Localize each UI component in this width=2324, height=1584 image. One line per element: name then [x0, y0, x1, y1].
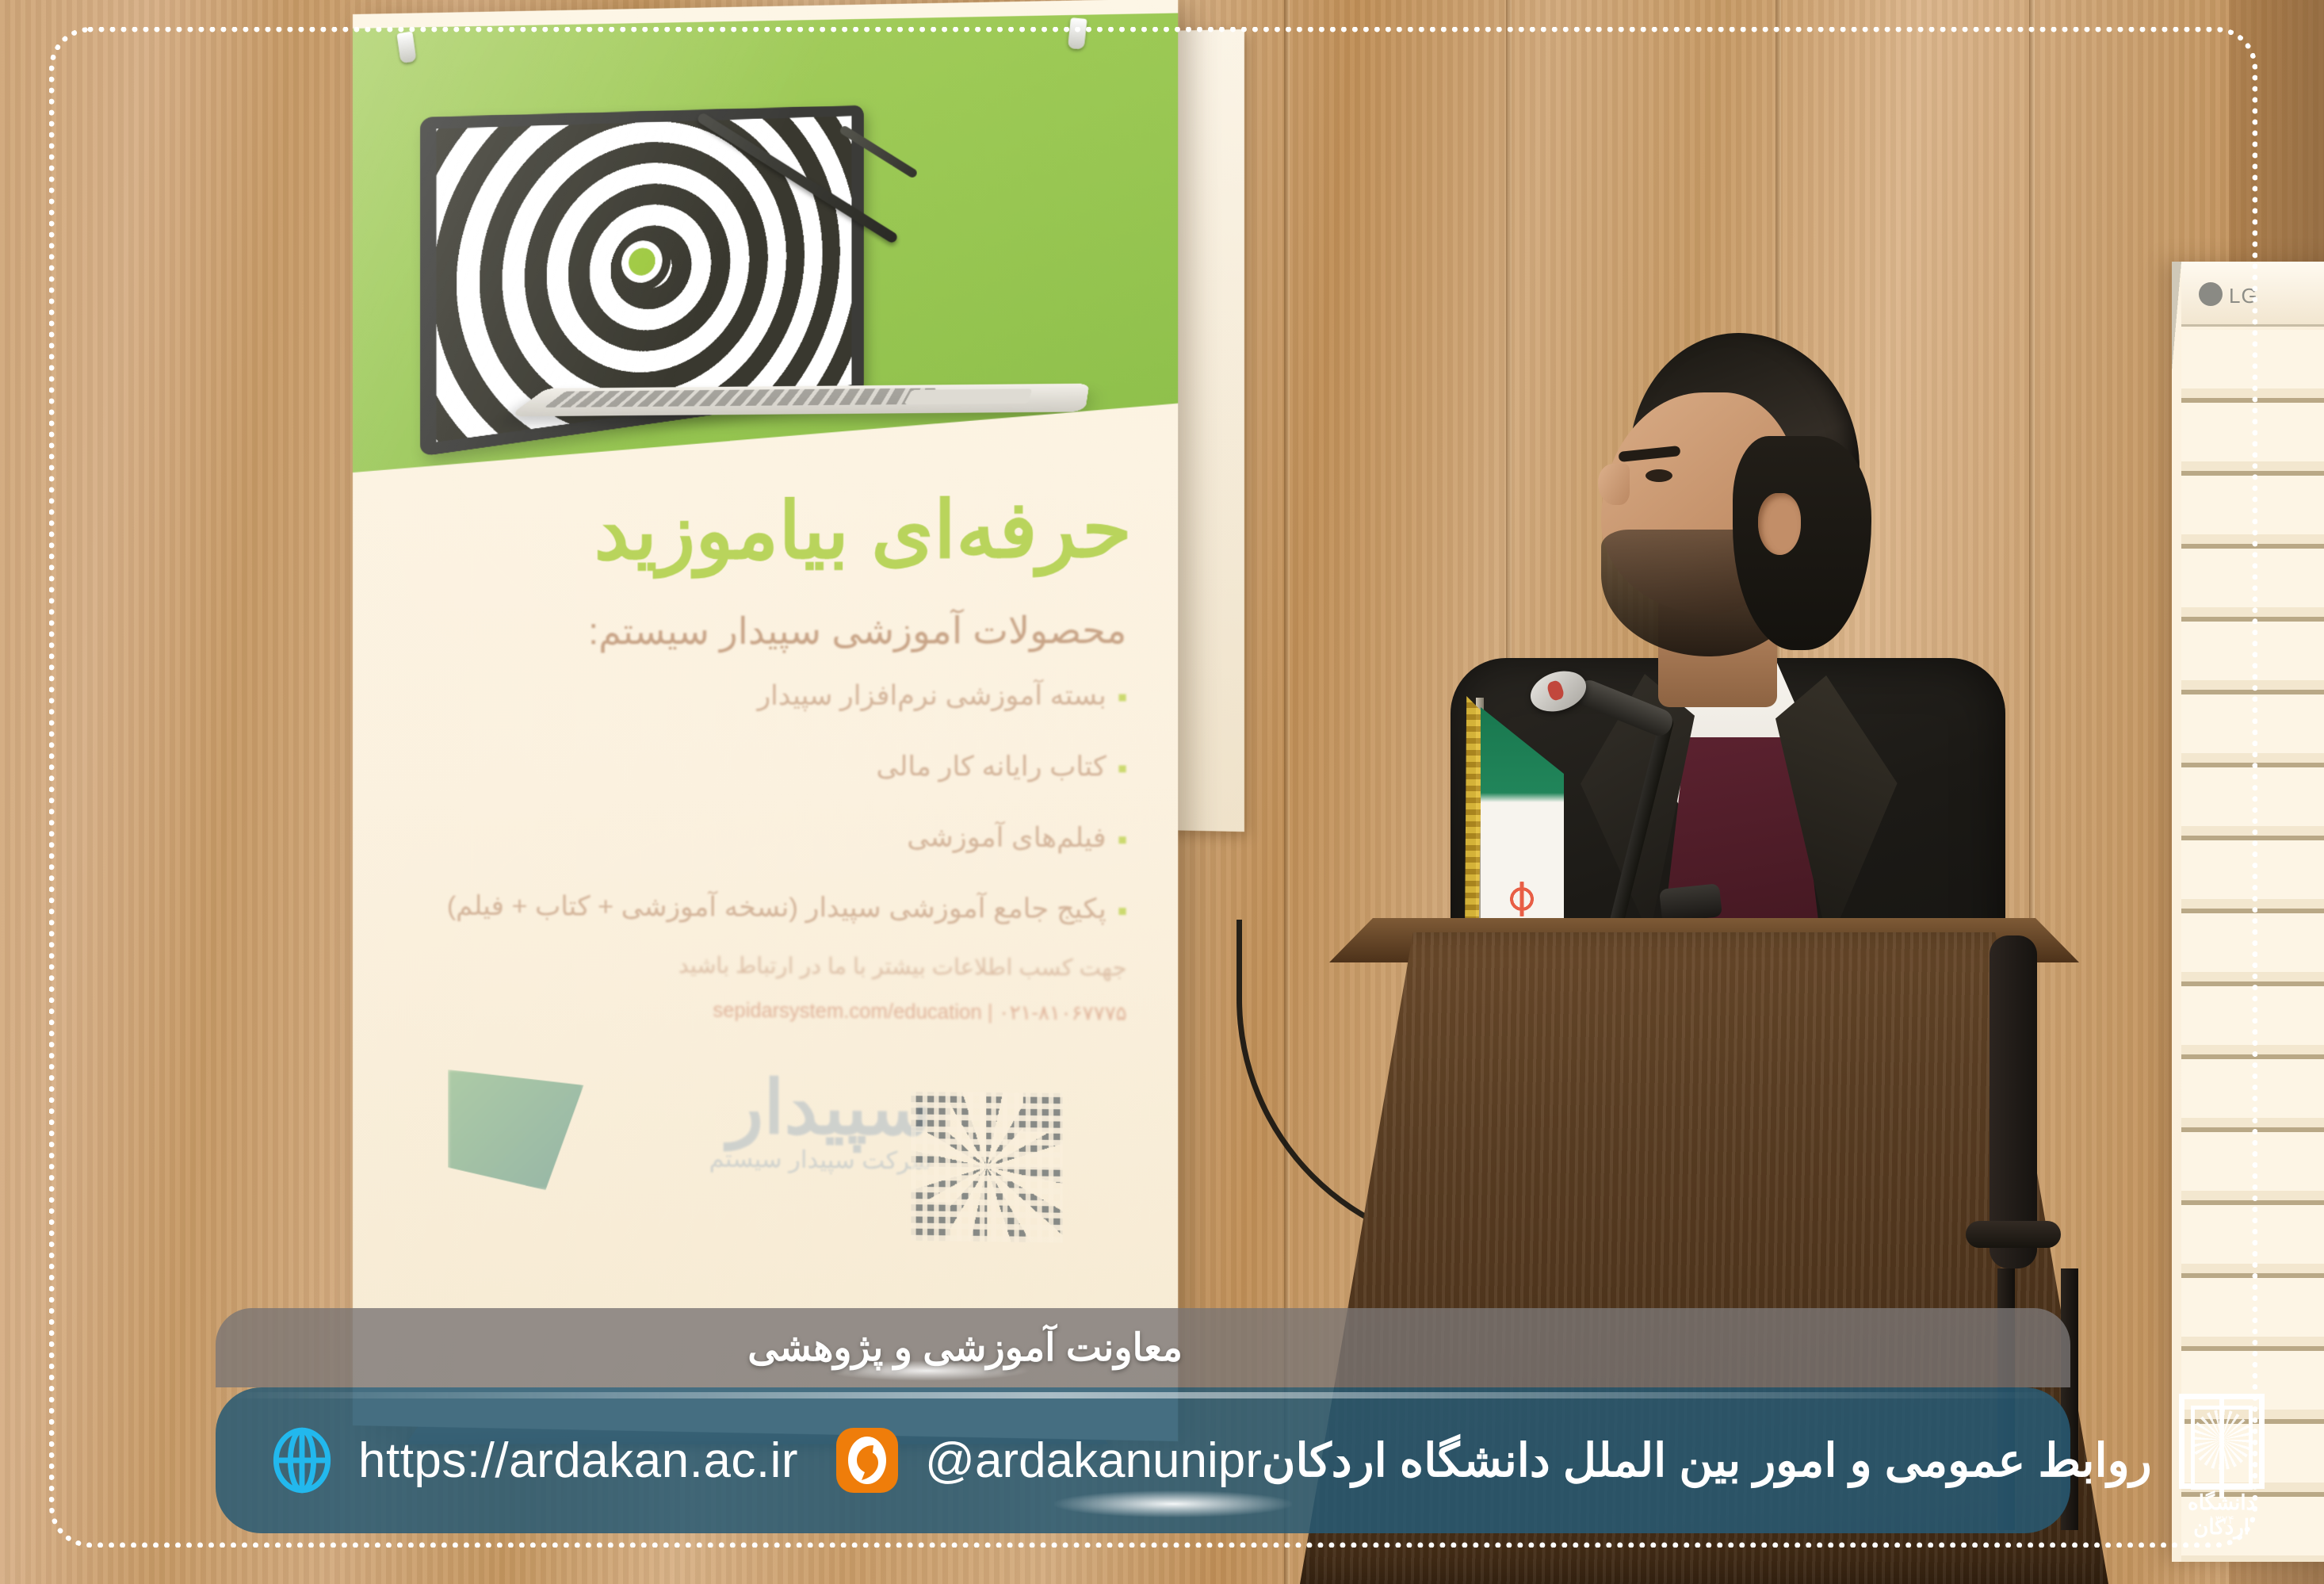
poster-subheadline: محصولات آموزشی سپیدار سیستم:	[399, 608, 1127, 653]
poster-brand-name: سپیدار	[728, 1066, 931, 1150]
eitaa-handle[interactable]: @ardakanunipr	[925, 1433, 1262, 1489]
chair-armrest	[1966, 1221, 2061, 1248]
rollup-poster: حرفه‌ای بیاموزید محصولات آموزشی سپیدار س…	[353, 0, 1178, 1441]
university-logo-year: ۱۳۷۴	[2171, 1513, 2272, 1527]
hair-side	[1733, 436, 1871, 650]
list-item: کتاب رایانه کار مالی	[399, 750, 1127, 783]
eye	[1646, 469, 1672, 482]
list-item: فیلم‌های آموزشی	[399, 820, 1127, 854]
contact-info-bar: https://ardakan.ac.ir @ardakanunipr رواب…	[216, 1387, 2070, 1533]
section-title-bar: معاونت آموزشی و پژوهشی	[216, 1308, 2070, 1387]
eitaa-messenger-icon[interactable]	[836, 1428, 898, 1493]
lg-brand-label: LG	[2229, 284, 2258, 308]
open-book-with-geometric-star-icon: دانشگاه اردکان ۱۳۷۴	[2171, 1391, 2272, 1530]
list-item: بسته آموزشی نرم‌افزار سپیدار	[399, 679, 1127, 712]
qr-code-icon	[911, 1092, 1062, 1242]
lg-logo-mark	[2199, 282, 2223, 306]
laptop-with-dartboard-and-arrow-icon	[416, 103, 1112, 464]
poster-contact-line: sepidarsystem.com/education | ۰۲۱-۸۱۰۶۷۷…	[399, 996, 1127, 1026]
nose	[1598, 464, 1630, 505]
microphone-mount	[1659, 883, 1722, 923]
section-title: معاونت آموزشی و پژوهشی	[747, 1326, 1183, 1370]
ear	[1758, 493, 1801, 555]
poster-headline: حرفه‌ای بیاموزید	[403, 484, 1132, 579]
air-conditioner-louvers	[2181, 330, 2324, 1562]
poster-artwork-panel	[353, 13, 1178, 473]
poster-pin-right	[1068, 17, 1087, 49]
air-conditioner-icon: LG	[2172, 262, 2324, 1562]
poster-brand-wordmark: سپیدار شرکت سپیدار سیستم	[709, 1064, 931, 1176]
globe-icon	[268, 1426, 336, 1494]
website-url[interactable]: https://ardakan.ac.ir	[358, 1433, 798, 1489]
poster-product-list: بسته آموزشی نرم‌افزار سپیدار کتاب رایانه…	[399, 679, 1127, 964]
chair-backrest	[1990, 935, 2037, 1268]
flag-emblem-icon	[1504, 882, 1539, 916]
poster-green-mark	[448, 1069, 583, 1191]
poster-brand-subtitle: شرکت سپیدار سیستم	[709, 1145, 931, 1176]
poster-contact-note: جهت کسب اطلاعات بیشتر با ما در ارتباط با…	[399, 950, 1127, 981]
list-item: پکیج جامع آموزشی سپیدار (نسخه آموزشی + ک…	[399, 890, 1127, 925]
organization-name: روابط عمومی و امور بین الملل دانشگاه ارد…	[1262, 1433, 2152, 1487]
